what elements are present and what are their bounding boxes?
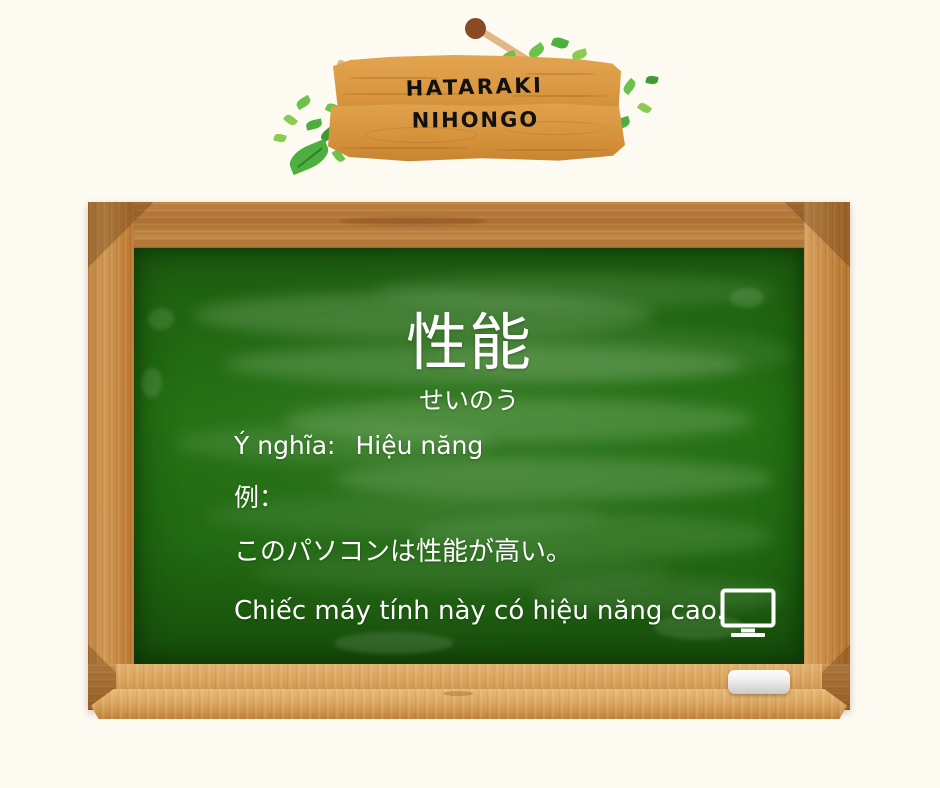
example-sentence-vi: Chiếc máy tính này có hiệu năng cao.	[234, 594, 725, 628]
lesson-content: 性能 せいのう Ý nghĩa:Hiệu năng 例： このパソコンは性能が高…	[134, 248, 804, 664]
leaf-icon	[637, 101, 652, 115]
blackboard: 性能 せいのう Ý nghĩa:Hiệu năng 例： このパソコンは性能が高…	[88, 202, 850, 722]
sign-knob-icon	[465, 18, 486, 39]
sign-board: HATARAKI NIHONGO	[325, 55, 625, 163]
leaf-icon	[283, 113, 298, 127]
wood-grain	[339, 147, 469, 149]
headword-reading: せいのう	[134, 386, 804, 416]
meaning-label: Ý nghĩa:	[234, 431, 335, 460]
example-sentence-jp: このパソコンは性能が高い。	[234, 535, 572, 569]
leaf-icon	[295, 95, 312, 110]
ledge-wood-knot	[443, 691, 473, 696]
leaf-icon	[645, 75, 658, 85]
board-frame-right	[804, 202, 850, 710]
meaning-value: Hiệu năng	[355, 431, 483, 460]
chalk-eraser[interactable]	[728, 670, 790, 694]
example-label: 例：	[234, 482, 284, 514]
monitor-icon	[720, 588, 776, 642]
leaf-icon	[273, 133, 287, 144]
board-frame-top	[88, 202, 850, 248]
leaf-icon	[305, 118, 323, 130]
sign-title-line2: NIHONGO	[325, 103, 625, 139]
sign-title-line1: HATARAKI	[405, 73, 543, 101]
headword-kanji: 性能	[134, 308, 804, 378]
sign-title: HATARAKI NIHONGO	[324, 67, 626, 141]
board-surface: 性能 せいのう Ý nghĩa:Hiệu năng 例： このパソコンは性能が高…	[134, 248, 804, 664]
wood-grain	[495, 149, 610, 151]
wood-knot	[338, 217, 488, 225]
hanging-sign: HATARAKI NIHONGO	[270, 0, 690, 185]
leaf-icon	[551, 36, 569, 51]
meaning-line: Ý nghĩa:Hiệu năng	[234, 430, 483, 462]
board-frame-left	[88, 202, 134, 710]
